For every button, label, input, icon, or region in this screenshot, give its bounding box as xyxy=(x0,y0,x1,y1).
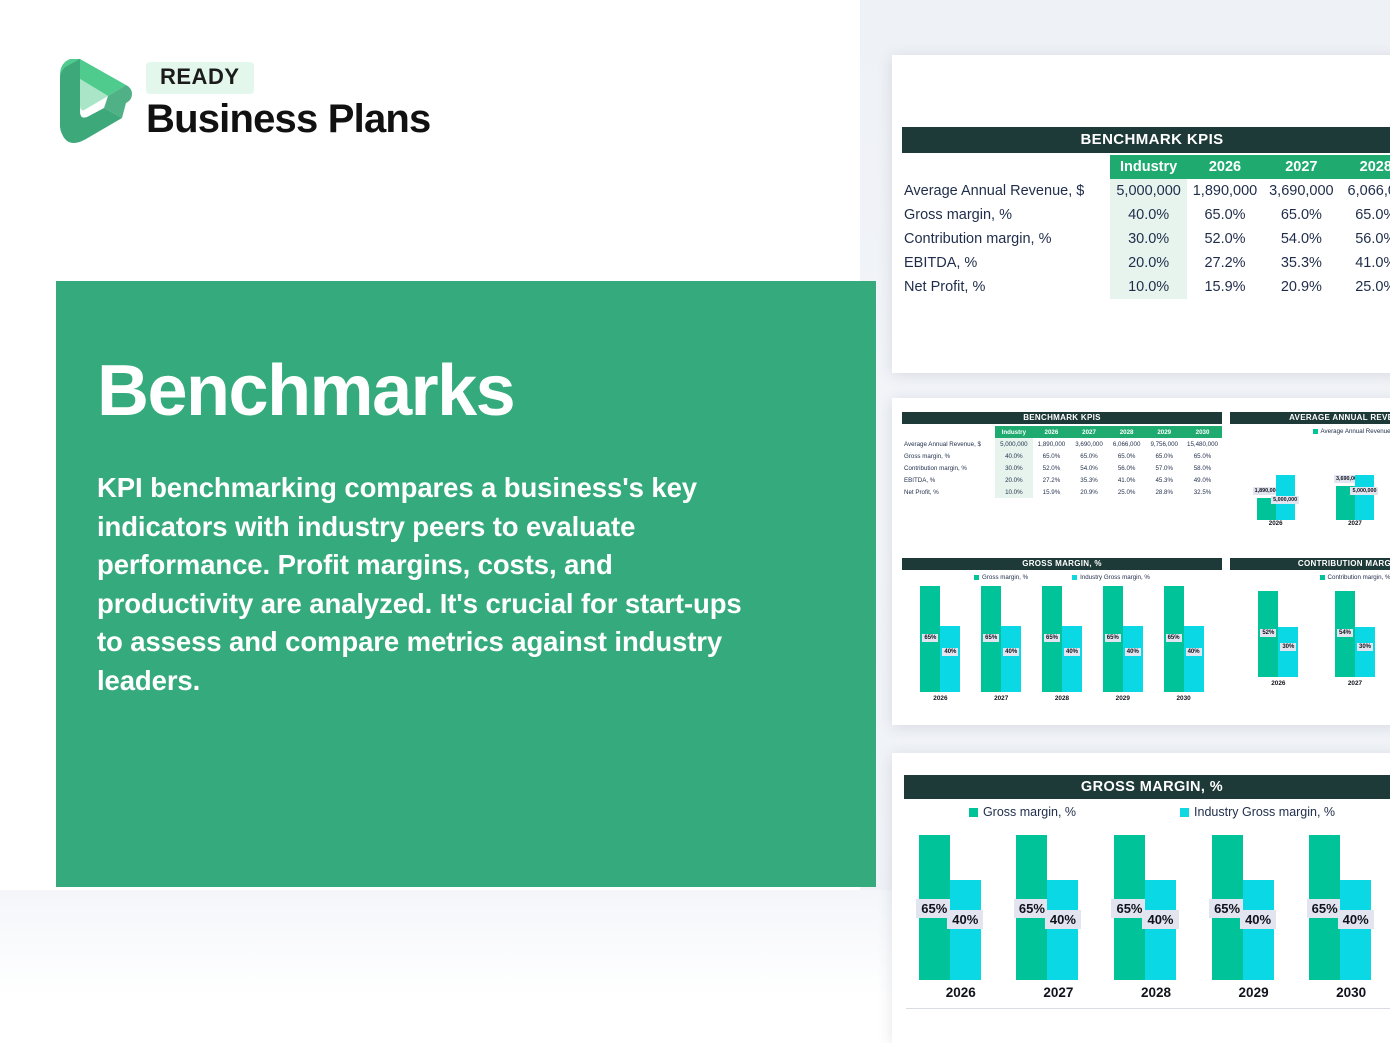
mini-kpi-table-title: BENCHMARK KPIS xyxy=(902,412,1222,424)
bar-group: 3,690,000 5,000,000 xyxy=(1336,475,1374,520)
table-row: Net Profit, % 10.0% 15.9% 20.9% 25.0% xyxy=(902,275,1390,299)
bar-industry: 40% xyxy=(1184,626,1204,692)
bar-group: 65% 40% xyxy=(919,835,1003,980)
bar-group: 65% 40% xyxy=(1309,835,1390,980)
table-row: EBITDA, % 20.0% 27.2% 35.3% 41.0% 45.3% … xyxy=(902,474,1222,486)
bar-company: 65% xyxy=(1309,835,1340,980)
gross-margin-bars: 65% 40% 65% 40% 65% 40% 65% 40% 65% 40% xyxy=(912,835,1390,980)
bar-industry: 40% xyxy=(1001,626,1021,692)
mini-contrib-bars: 52% 30% 54% 30% 56% 30% xyxy=(1230,591,1390,677)
bar-group: 65% 40% xyxy=(1016,835,1100,980)
bar-company: 54% xyxy=(1335,591,1355,677)
gross-margin-legend: Gross margin, % Industry Gross margin, % xyxy=(904,805,1390,819)
legend-item-gross-margin: Gross margin, % xyxy=(969,805,1076,819)
mini-kpi-table-panel: BENCHMARK KPIS Industry 2026 2027 2028 2… xyxy=(902,412,1222,498)
mini-contrib-legend: Contribution margin, % xyxy=(1230,574,1390,581)
legend-swatch-icon xyxy=(1313,429,1318,434)
bar-industry: 40% xyxy=(1047,880,1078,980)
bar-company: 65% xyxy=(919,835,950,980)
bar-company: 65% xyxy=(920,586,940,692)
mini-revenue-title: AVERAGE ANNUAL REVENUE, $ xyxy=(1230,412,1390,424)
bar-industry: 40% xyxy=(1243,880,1274,980)
hero-description: KPI benchmarking compares a business's k… xyxy=(97,469,762,700)
legend-swatch-icon xyxy=(974,575,979,580)
table-header-row: Industry 2026 2027 2028 2029 2030 xyxy=(902,426,1222,438)
mini-gross-xaxis: 2026 2027 2028 2029 2030 xyxy=(902,695,1222,702)
table-row: Gross margin, % 40.0% 65.0% 65.0% 65.0% … xyxy=(902,450,1222,462)
kpi-table-title: BENCHMARK KPIS xyxy=(902,127,1390,153)
bar-company: 65% xyxy=(1164,586,1184,692)
brand-name: Business Plans xyxy=(146,98,430,140)
hero-panel: Benchmarks KPI benchmarking compares a b… xyxy=(56,281,876,887)
table-row: Average Annual Revenue, $ 5,000,000 1,89… xyxy=(902,438,1222,450)
gross-margin-xaxis: 2026 2027 2028 2029 2030 xyxy=(912,985,1390,1000)
bar-industry: 5,000,000 xyxy=(1276,475,1295,520)
col-header-2028: 2028 xyxy=(1340,155,1390,179)
table-row: Contribution margin, % 30.0% 52.0% 54.0%… xyxy=(902,462,1222,474)
bar-group: 65% 40% xyxy=(1042,586,1082,692)
mini-revenue-bars: 1,890,000 5,000,000 3,690,000 5,000,000 … xyxy=(1230,435,1390,520)
bar-company: 65% xyxy=(1212,835,1243,980)
bar-company: 65% xyxy=(1103,586,1123,692)
col-header-industry: Industry xyxy=(1110,155,1186,179)
bar-industry: 40% xyxy=(1062,626,1082,692)
mini-contrib-title: CONTRIBUTION MARGIN, % xyxy=(1230,558,1390,570)
bar-company: 65% xyxy=(1114,835,1145,980)
legend-swatch-icon xyxy=(1180,808,1189,817)
table-header-row: Industry 2026 2027 2028 xyxy=(902,155,1390,179)
bar-industry: 40% xyxy=(940,626,960,692)
legend-item-contribution-margin: Contribution margin, % xyxy=(1320,574,1390,581)
bar-company: 65% xyxy=(1016,835,1047,980)
mini-gross-legend: Gross margin, % Industry Gross margin, % xyxy=(902,574,1222,581)
bar-company: 52% xyxy=(1258,591,1278,677)
mini-gross-bars: 65% 40% 65% 40% 65% 40% xyxy=(902,586,1222,692)
legend-swatch-icon xyxy=(1320,575,1325,580)
gross-margin-title: GROSS MARGIN, % xyxy=(904,775,1390,799)
bar-industry: 40% xyxy=(1340,880,1371,980)
mini-contrib-xaxis: 2026 2027 2028 xyxy=(1230,680,1390,687)
mini-contribution-margin-chart: CONTRIBUTION MARGIN, % Contribution marg… xyxy=(1230,558,1390,713)
mini-benchmark-table: Industry 2026 2027 2028 2029 2030 Averag… xyxy=(902,426,1222,498)
kpi-table-card: BENCHMARK KPIS Industry 2026 2027 2028 A… xyxy=(892,55,1390,373)
page-title: Benchmarks xyxy=(97,355,797,427)
mini-gross-margin-chart: GROSS MARGIN, % Gross margin, % Industry… xyxy=(902,558,1222,713)
bar-industry: 40% xyxy=(1145,880,1176,980)
bar-group: 65% 40% xyxy=(981,586,1021,692)
mini-gross-title: GROSS MARGIN, % xyxy=(902,558,1222,570)
bar-industry: 5,000,000 xyxy=(1355,475,1374,520)
bar-company: 65% xyxy=(981,586,1001,692)
dashboard-card: BENCHMARK KPIS Industry 2026 2027 2028 2… xyxy=(892,398,1390,725)
ready-badge: READY xyxy=(146,62,254,93)
bar-group: 65% 40% xyxy=(1212,835,1296,980)
bar-industry: 40% xyxy=(950,880,981,980)
table-row: Contribution margin, % 30.0% 52.0% 54.0%… xyxy=(902,227,1390,251)
table-row: Net Profit, % 10.0% 15.9% 20.9% 25.0% 28… xyxy=(902,486,1222,498)
bar-group: 52% 30% xyxy=(1258,591,1298,677)
mini-revenue-xaxis: 2026 2027 2028 xyxy=(1230,520,1390,527)
mini-revenue-legend: Average Annual Revenue, $ xyxy=(1230,428,1390,435)
brand-logo: READY Business Plans xyxy=(56,55,430,147)
bar-group: 65% 40% xyxy=(1114,835,1198,980)
axis-rule xyxy=(906,1008,1390,1009)
bar-industry: 40% xyxy=(1123,626,1143,692)
bar-group: 54% 30% xyxy=(1335,591,1375,677)
legend-item-revenue: Average Annual Revenue, $ xyxy=(1313,428,1390,435)
legend-item-industry-gross-margin: Industry Gross margin, % xyxy=(1072,574,1150,581)
col-header-2026: 2026 xyxy=(1187,155,1263,179)
brand-lockup: READY Business Plans xyxy=(146,62,430,139)
legend-item-gross-margin: Gross margin, % xyxy=(974,574,1028,581)
legend-item-industry-gross-margin: Industry Gross margin, % xyxy=(1180,805,1335,819)
mini-revenue-chart: AVERAGE ANNUAL REVENUE, $ Average Annual… xyxy=(1230,412,1390,552)
bar-group: 1,890,000 5,000,000 xyxy=(1257,475,1295,520)
play-triangle-logo-icon xyxy=(56,55,132,147)
bar-group: 65% 40% xyxy=(1164,586,1204,692)
bar-industry: 30% xyxy=(1355,627,1375,677)
bar-group: 65% 40% xyxy=(920,586,960,692)
bar-group: 65% 40% xyxy=(1103,586,1143,692)
table-row: Average Annual Revenue, $ 5,000,000 1,89… xyxy=(902,179,1390,203)
legend-swatch-icon xyxy=(969,808,978,817)
legend-swatch-icon xyxy=(1072,575,1077,580)
benchmark-kpis-table: Industry 2026 2027 2028 Average Annual R… xyxy=(902,155,1390,299)
gross-margin-card: GROSS MARGIN, % Gross margin, % Industry… xyxy=(892,753,1390,1043)
table-row: Gross margin, % 40.0% 65.0% 65.0% 65.0% xyxy=(902,203,1390,227)
bar-industry: 30% xyxy=(1278,627,1298,677)
col-header-2027: 2027 xyxy=(1263,155,1339,179)
table-row: EBITDA, % 20.0% 27.2% 35.3% 41.0% xyxy=(902,251,1390,275)
bar-company: 65% xyxy=(1042,586,1062,692)
